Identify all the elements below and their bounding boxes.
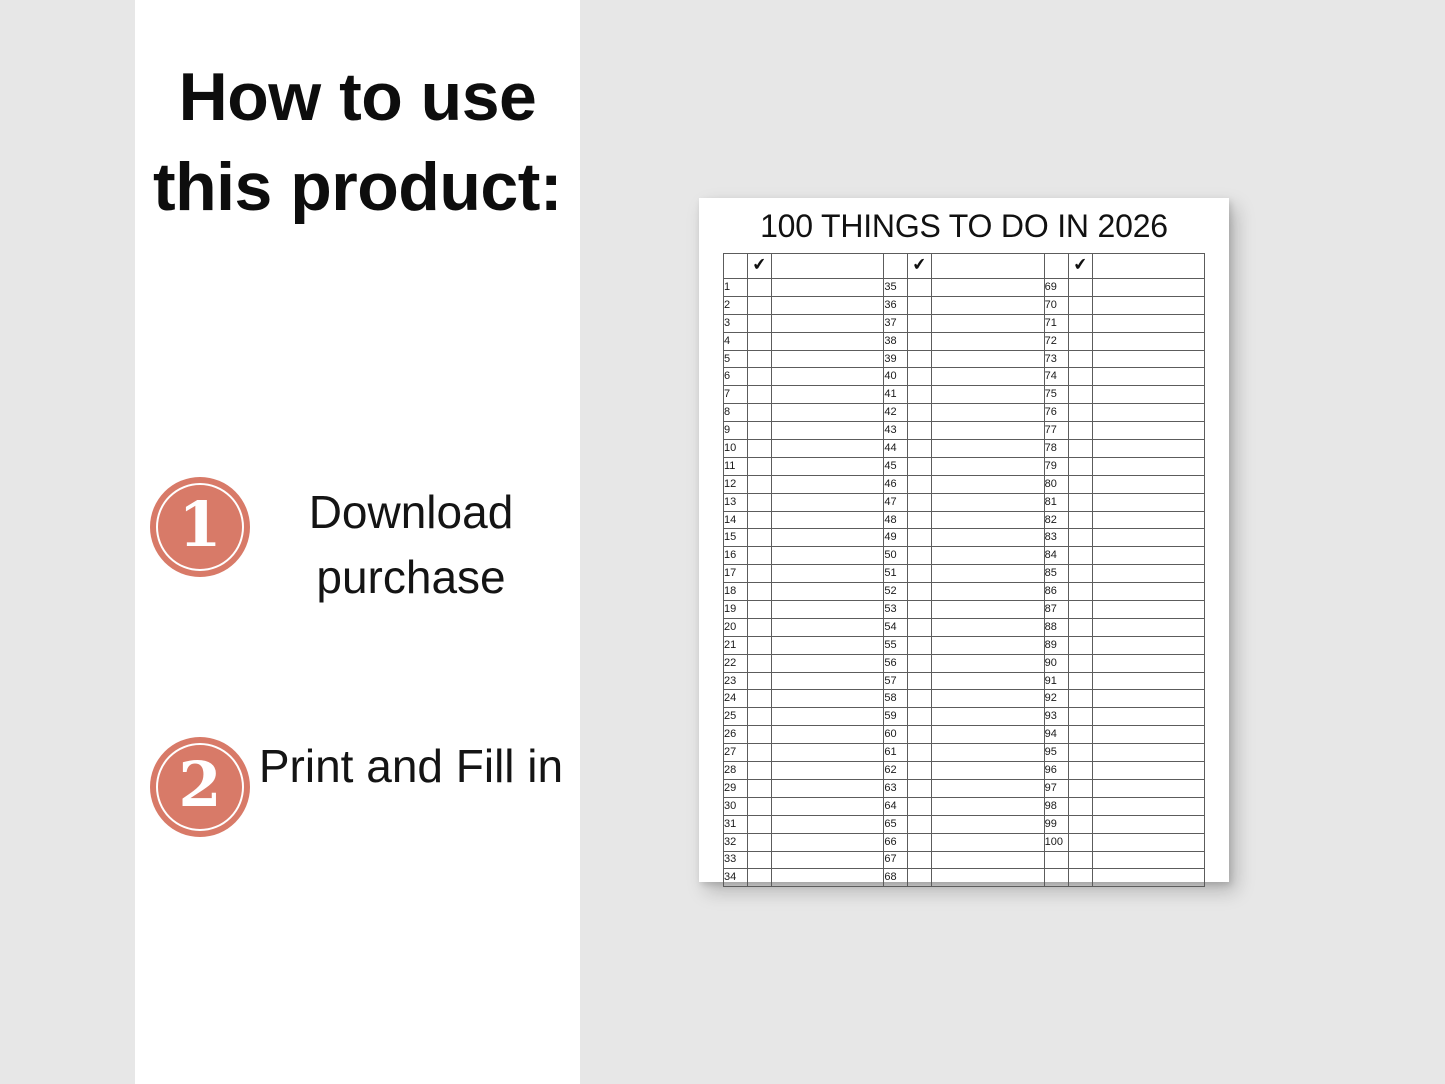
row-checkbox-cell[interactable] bbox=[1068, 690, 1092, 708]
row-checkbox-cell[interactable] bbox=[748, 690, 772, 708]
row-entry-cell[interactable] bbox=[772, 386, 884, 404]
row-entry-cell[interactable] bbox=[932, 815, 1044, 833]
row-entry-cell[interactable] bbox=[932, 869, 1044, 887]
table-row: 30 bbox=[724, 797, 884, 815]
row-checkbox-cell[interactable] bbox=[908, 583, 932, 601]
row-checkbox-cell[interactable] bbox=[908, 386, 932, 404]
row-number: 95 bbox=[1044, 744, 1068, 762]
row-checkbox-cell[interactable] bbox=[1068, 601, 1092, 619]
row-checkbox-cell[interactable] bbox=[748, 726, 772, 744]
table-row: 44 bbox=[884, 440, 1044, 458]
row-number: 22 bbox=[724, 654, 748, 672]
row-entry-cell[interactable] bbox=[1092, 869, 1204, 887]
table-row: 82 bbox=[1044, 511, 1204, 529]
row-checkbox-cell[interactable] bbox=[908, 833, 932, 851]
row-entry-cell[interactable] bbox=[772, 672, 884, 690]
row-entry-cell[interactable] bbox=[932, 368, 1044, 386]
row-entry-cell[interactable] bbox=[772, 654, 884, 672]
row-entry-cell[interactable] bbox=[1092, 457, 1204, 475]
row-checkbox-cell[interactable] bbox=[908, 332, 932, 350]
row-entry-cell[interactable] bbox=[1092, 672, 1204, 690]
row-number: 66 bbox=[884, 833, 908, 851]
row-checkbox-cell[interactable] bbox=[748, 422, 772, 440]
row-entry-cell[interactable] bbox=[932, 833, 1044, 851]
row-entry-cell[interactable] bbox=[932, 279, 1044, 297]
row-checkbox-cell[interactable] bbox=[748, 404, 772, 422]
row-entry-cell[interactable] bbox=[1092, 475, 1204, 493]
row-entry-cell[interactable] bbox=[772, 744, 884, 762]
row-checkbox-cell[interactable] bbox=[908, 314, 932, 332]
row-checkbox-cell[interactable] bbox=[908, 279, 932, 297]
row-entry-cell[interactable] bbox=[1092, 708, 1204, 726]
row-number: 72 bbox=[1044, 332, 1068, 350]
row-entry-cell[interactable] bbox=[932, 618, 1044, 636]
row-entry-cell[interactable] bbox=[932, 726, 1044, 744]
row-checkbox-cell[interactable] bbox=[908, 440, 932, 458]
row-entry-cell[interactable] bbox=[772, 332, 884, 350]
row-entry-cell[interactable] bbox=[932, 296, 1044, 314]
row-entry-cell[interactable] bbox=[1092, 779, 1204, 797]
row-checkbox-cell[interactable] bbox=[748, 654, 772, 672]
row-entry-cell[interactable] bbox=[1092, 493, 1204, 511]
row-checkbox-cell[interactable] bbox=[908, 744, 932, 762]
row-entry-cell[interactable] bbox=[1092, 762, 1204, 780]
row-entry-cell[interactable] bbox=[772, 583, 884, 601]
row-checkbox-cell[interactable] bbox=[748, 601, 772, 619]
row-checkbox-cell[interactable] bbox=[748, 475, 772, 493]
row-checkbox-cell[interactable] bbox=[748, 296, 772, 314]
table-row: 42 bbox=[884, 404, 1044, 422]
row-entry-cell[interactable] bbox=[772, 762, 884, 780]
row-checkbox-cell[interactable] bbox=[1068, 565, 1092, 583]
row-number bbox=[1044, 851, 1068, 869]
checklist-column-2: ✔353637383940414243444546474849505152535… bbox=[883, 253, 1044, 887]
row-number: 47 bbox=[884, 493, 908, 511]
row-entry-cell[interactable] bbox=[1092, 547, 1204, 565]
row-entry-cell[interactable] bbox=[1092, 815, 1204, 833]
row-checkbox-cell[interactable] bbox=[908, 672, 932, 690]
row-number: 61 bbox=[884, 744, 908, 762]
row-checkbox-cell[interactable] bbox=[1068, 851, 1092, 869]
checklist-grid: ✔123456789101112131415161718192021222324… bbox=[723, 253, 1207, 887]
row-number: 19 bbox=[724, 601, 748, 619]
table-row: 19 bbox=[724, 601, 884, 619]
row-entry-cell[interactable] bbox=[772, 511, 884, 529]
row-entry-cell[interactable] bbox=[932, 404, 1044, 422]
row-checkbox-cell[interactable] bbox=[908, 511, 932, 529]
row-number: 84 bbox=[1044, 547, 1068, 565]
row-number: 78 bbox=[1044, 440, 1068, 458]
row-number: 81 bbox=[1044, 493, 1068, 511]
table-row: 22 bbox=[724, 654, 884, 672]
row-checkbox-cell[interactable] bbox=[748, 833, 772, 851]
row-entry-cell[interactable] bbox=[1092, 618, 1204, 636]
row-entry-cell[interactable] bbox=[932, 332, 1044, 350]
row-entry-cell[interactable] bbox=[932, 493, 1044, 511]
row-checkbox-cell[interactable] bbox=[1068, 404, 1092, 422]
row-entry-cell[interactable] bbox=[772, 726, 884, 744]
row-checkbox-cell[interactable] bbox=[908, 529, 932, 547]
row-checkbox-cell[interactable] bbox=[908, 404, 932, 422]
table-row: 9 bbox=[724, 422, 884, 440]
table-row: 32 bbox=[724, 833, 884, 851]
row-checkbox-cell[interactable] bbox=[1068, 762, 1092, 780]
row-number: 80 bbox=[1044, 475, 1068, 493]
row-checkbox-cell[interactable] bbox=[1068, 314, 1092, 332]
row-checkbox-cell[interactable] bbox=[748, 797, 772, 815]
row-entry-cell[interactable] bbox=[772, 636, 884, 654]
row-entry-cell[interactable] bbox=[772, 708, 884, 726]
row-entry-cell[interactable] bbox=[772, 422, 884, 440]
row-entry-cell[interactable] bbox=[772, 547, 884, 565]
row-checkbox-cell[interactable] bbox=[748, 368, 772, 386]
row-checkbox-cell[interactable] bbox=[1068, 797, 1092, 815]
row-entry-cell[interactable] bbox=[772, 869, 884, 887]
table-row: 52 bbox=[884, 583, 1044, 601]
row-entry-cell[interactable] bbox=[772, 833, 884, 851]
row-checkbox-cell[interactable] bbox=[1068, 815, 1092, 833]
row-entry-cell[interactable] bbox=[1092, 833, 1204, 851]
row-checkbox-cell[interactable] bbox=[748, 457, 772, 475]
row-checkbox-cell[interactable] bbox=[1068, 296, 1092, 314]
row-checkbox-cell[interactable] bbox=[908, 726, 932, 744]
row-checkbox-cell[interactable] bbox=[1068, 583, 1092, 601]
row-entry-cell[interactable] bbox=[1092, 422, 1204, 440]
row-entry-cell[interactable] bbox=[772, 440, 884, 458]
row-entry-cell[interactable] bbox=[1092, 690, 1204, 708]
row-checkbox-cell[interactable] bbox=[908, 708, 932, 726]
table-row: 15 bbox=[724, 529, 884, 547]
row-number: 59 bbox=[884, 708, 908, 726]
table-row: 59 bbox=[884, 708, 1044, 726]
table-row: 93 bbox=[1044, 708, 1204, 726]
row-entry-cell[interactable] bbox=[932, 386, 1044, 404]
row-entry-cell[interactable] bbox=[932, 422, 1044, 440]
row-entry-cell[interactable] bbox=[1092, 744, 1204, 762]
row-number: 31 bbox=[724, 815, 748, 833]
row-number: 21 bbox=[724, 636, 748, 654]
row-checkbox-cell[interactable] bbox=[1068, 672, 1092, 690]
table-row: 35 bbox=[884, 279, 1044, 297]
row-entry-cell[interactable] bbox=[932, 565, 1044, 583]
row-entry-cell[interactable] bbox=[932, 654, 1044, 672]
row-entry-cell[interactable] bbox=[1092, 529, 1204, 547]
table-row: 55 bbox=[884, 636, 1044, 654]
table-row: 5 bbox=[724, 350, 884, 368]
row-entry-cell[interactable] bbox=[1092, 350, 1204, 368]
row-entry-cell[interactable] bbox=[772, 296, 884, 314]
row-checkbox-cell[interactable] bbox=[1068, 386, 1092, 404]
row-checkbox-cell[interactable] bbox=[748, 440, 772, 458]
row-entry-cell[interactable] bbox=[932, 511, 1044, 529]
row-checkbox-cell[interactable] bbox=[1068, 833, 1092, 851]
row-entry-cell[interactable] bbox=[772, 350, 884, 368]
row-number: 85 bbox=[1044, 565, 1068, 583]
row-checkbox-cell[interactable] bbox=[748, 279, 772, 297]
row-checkbox-cell[interactable] bbox=[908, 457, 932, 475]
step-badge-1: 1 bbox=[150, 477, 250, 577]
table-row: 72 bbox=[1044, 332, 1204, 350]
row-number: 9 bbox=[724, 422, 748, 440]
table-row: 78 bbox=[1044, 440, 1204, 458]
row-entry-cell[interactable] bbox=[932, 672, 1044, 690]
row-checkbox-cell[interactable] bbox=[908, 690, 932, 708]
row-entry-cell[interactable] bbox=[1092, 565, 1204, 583]
row-checkbox-cell[interactable] bbox=[1068, 618, 1092, 636]
row-entry-cell[interactable] bbox=[932, 636, 1044, 654]
row-number: 91 bbox=[1044, 672, 1068, 690]
row-checkbox-cell[interactable] bbox=[908, 851, 932, 869]
row-number: 46 bbox=[884, 475, 908, 493]
row-checkbox-cell[interactable] bbox=[748, 636, 772, 654]
row-number: 63 bbox=[884, 779, 908, 797]
row-entry-cell[interactable] bbox=[772, 690, 884, 708]
row-checkbox-cell[interactable] bbox=[908, 565, 932, 583]
row-entry-cell[interactable] bbox=[1092, 654, 1204, 672]
step-number-2: 2 bbox=[178, 754, 221, 816]
row-checkbox-cell[interactable] bbox=[1068, 708, 1092, 726]
row-checkbox-cell[interactable] bbox=[908, 422, 932, 440]
row-checkbox-cell[interactable] bbox=[908, 779, 932, 797]
table-row: 4 bbox=[724, 332, 884, 350]
row-checkbox-cell[interactable] bbox=[748, 618, 772, 636]
row-number: 94 bbox=[1044, 726, 1068, 744]
row-checkbox-cell[interactable] bbox=[748, 350, 772, 368]
row-number: 14 bbox=[724, 511, 748, 529]
table-row: 81 bbox=[1044, 493, 1204, 511]
row-checkbox-cell[interactable] bbox=[748, 493, 772, 511]
row-entry-cell[interactable] bbox=[1092, 601, 1204, 619]
table-row: 7 bbox=[724, 386, 884, 404]
row-checkbox-cell[interactable] bbox=[1068, 744, 1092, 762]
row-entry-cell[interactable] bbox=[932, 440, 1044, 458]
row-checkbox-cell[interactable] bbox=[748, 386, 772, 404]
row-entry-cell[interactable] bbox=[932, 744, 1044, 762]
row-checkbox-cell[interactable] bbox=[748, 708, 772, 726]
row-entry-cell[interactable] bbox=[1092, 851, 1204, 869]
row-number: 48 bbox=[884, 511, 908, 529]
row-checkbox-cell[interactable] bbox=[748, 332, 772, 350]
row-entry-cell[interactable] bbox=[772, 279, 884, 297]
row-number: 27 bbox=[724, 744, 748, 762]
row-checkbox-cell[interactable] bbox=[1068, 493, 1092, 511]
row-entry-cell[interactable] bbox=[932, 475, 1044, 493]
table-row: 16 bbox=[724, 547, 884, 565]
row-number: 25 bbox=[724, 708, 748, 726]
row-entry-cell[interactable] bbox=[1092, 404, 1204, 422]
step-item-2: 2 Print and Fill in bbox=[135, 712, 580, 837]
row-checkbox-cell[interactable] bbox=[908, 869, 932, 887]
row-entry-cell[interactable] bbox=[932, 350, 1044, 368]
table-row: 68 bbox=[884, 869, 1044, 887]
row-number: 2 bbox=[724, 296, 748, 314]
table-row: 100 bbox=[1044, 833, 1204, 851]
row-entry-cell[interactable] bbox=[932, 547, 1044, 565]
row-number: 17 bbox=[724, 565, 748, 583]
row-checkbox-cell[interactable] bbox=[1068, 422, 1092, 440]
header-entry-cell bbox=[932, 254, 1044, 279]
row-entry-cell[interactable] bbox=[1092, 440, 1204, 458]
row-checkbox-cell[interactable] bbox=[908, 815, 932, 833]
table-row: 64 bbox=[884, 797, 1044, 815]
row-entry-cell[interactable] bbox=[932, 457, 1044, 475]
row-entry-cell[interactable] bbox=[1092, 636, 1204, 654]
row-checkbox-cell[interactable] bbox=[748, 547, 772, 565]
row-entry-cell[interactable] bbox=[1092, 314, 1204, 332]
checklist-table: ✔123456789101112131415161718192021222324… bbox=[723, 253, 884, 887]
row-entry-cell[interactable] bbox=[932, 762, 1044, 780]
table-row: 48 bbox=[884, 511, 1044, 529]
row-number: 15 bbox=[724, 529, 748, 547]
row-entry-cell[interactable] bbox=[772, 618, 884, 636]
table-row: 57 bbox=[884, 672, 1044, 690]
row-checkbox-cell[interactable] bbox=[748, 314, 772, 332]
row-entry-cell[interactable] bbox=[1092, 583, 1204, 601]
row-checkbox-cell[interactable] bbox=[1068, 350, 1092, 368]
row-number: 1 bbox=[724, 279, 748, 297]
row-checkbox-cell[interactable] bbox=[908, 601, 932, 619]
table-row: 17 bbox=[724, 565, 884, 583]
row-entry-cell[interactable] bbox=[772, 851, 884, 869]
row-entry-cell[interactable] bbox=[772, 529, 884, 547]
row-entry-cell[interactable] bbox=[772, 457, 884, 475]
row-checkbox-cell[interactable] bbox=[1068, 368, 1092, 386]
row-number: 24 bbox=[724, 690, 748, 708]
row-checkbox-cell[interactable] bbox=[908, 654, 932, 672]
checklist-table: ✔697071727374757677787980818283848586878… bbox=[1044, 253, 1205, 887]
row-number: 7 bbox=[724, 386, 748, 404]
row-number: 20 bbox=[724, 618, 748, 636]
table-row: 11 bbox=[724, 457, 884, 475]
row-number: 87 bbox=[1044, 601, 1068, 619]
row-checkbox-cell[interactable] bbox=[1068, 457, 1092, 475]
row-checkbox-cell[interactable] bbox=[908, 296, 932, 314]
table-row: 65 bbox=[884, 815, 1044, 833]
table-row: 34 bbox=[724, 869, 884, 887]
row-number: 11 bbox=[724, 457, 748, 475]
row-entry-cell[interactable] bbox=[1092, 797, 1204, 815]
row-checkbox-cell[interactable] bbox=[1068, 869, 1092, 887]
table-row bbox=[1044, 851, 1204, 869]
row-entry-cell[interactable] bbox=[1092, 368, 1204, 386]
row-entry-cell[interactable] bbox=[932, 797, 1044, 815]
row-checkbox-cell[interactable] bbox=[748, 851, 772, 869]
row-checkbox-cell[interactable] bbox=[1068, 440, 1092, 458]
row-checkbox-cell[interactable] bbox=[908, 350, 932, 368]
table-row: 50 bbox=[884, 547, 1044, 565]
table-row: 69 bbox=[1044, 279, 1204, 297]
row-checkbox-cell[interactable] bbox=[1068, 636, 1092, 654]
table-row: 95 bbox=[1044, 744, 1204, 762]
row-number: 12 bbox=[724, 475, 748, 493]
row-entry-cell[interactable] bbox=[772, 797, 884, 815]
row-checkbox-cell[interactable] bbox=[908, 636, 932, 654]
row-checkbox-cell[interactable] bbox=[1068, 279, 1092, 297]
row-checkbox-cell[interactable] bbox=[748, 779, 772, 797]
row-checkbox-cell[interactable] bbox=[748, 744, 772, 762]
row-entry-cell[interactable] bbox=[772, 368, 884, 386]
step-item-1: 1 Download purchase bbox=[135, 452, 580, 712]
row-checkbox-cell[interactable] bbox=[748, 762, 772, 780]
row-entry-cell[interactable] bbox=[932, 601, 1044, 619]
row-checkbox-cell[interactable] bbox=[1068, 332, 1092, 350]
row-entry-cell[interactable] bbox=[772, 493, 884, 511]
row-entry-cell[interactable] bbox=[772, 314, 884, 332]
row-entry-cell[interactable] bbox=[932, 583, 1044, 601]
row-entry-cell[interactable] bbox=[1092, 511, 1204, 529]
row-checkbox-cell[interactable] bbox=[908, 475, 932, 493]
row-checkbox-cell[interactable] bbox=[1068, 654, 1092, 672]
row-number: 54 bbox=[884, 618, 908, 636]
row-checkbox-cell[interactable] bbox=[1068, 475, 1092, 493]
table-row: 96 bbox=[1044, 762, 1204, 780]
row-checkbox-cell[interactable] bbox=[748, 583, 772, 601]
row-entry-cell[interactable] bbox=[772, 565, 884, 583]
row-entry-cell[interactable] bbox=[772, 475, 884, 493]
row-checkbox-cell[interactable] bbox=[908, 493, 932, 511]
row-entry-cell[interactable] bbox=[1092, 386, 1204, 404]
row-checkbox-cell[interactable] bbox=[748, 815, 772, 833]
row-checkbox-cell[interactable] bbox=[1068, 779, 1092, 797]
table-row: 75 bbox=[1044, 386, 1204, 404]
row-checkbox-cell[interactable] bbox=[748, 869, 772, 887]
row-number: 50 bbox=[884, 547, 908, 565]
table-row: 76 bbox=[1044, 404, 1204, 422]
row-checkbox-cell[interactable] bbox=[748, 672, 772, 690]
table-row: 56 bbox=[884, 654, 1044, 672]
row-checkbox-cell[interactable] bbox=[908, 762, 932, 780]
row-checkbox-cell[interactable] bbox=[748, 511, 772, 529]
table-row: 94 bbox=[1044, 726, 1204, 744]
table-row: 41 bbox=[884, 386, 1044, 404]
row-entry-cell[interactable] bbox=[772, 601, 884, 619]
row-number: 13 bbox=[724, 493, 748, 511]
row-number: 28 bbox=[724, 762, 748, 780]
row-checkbox-cell[interactable] bbox=[908, 797, 932, 815]
row-checkbox-cell[interactable] bbox=[748, 529, 772, 547]
row-checkbox-cell[interactable] bbox=[908, 368, 932, 386]
row-number: 52 bbox=[884, 583, 908, 601]
row-entry-cell[interactable] bbox=[772, 779, 884, 797]
row-entry-cell[interactable] bbox=[1092, 726, 1204, 744]
row-entry-cell[interactable] bbox=[1092, 296, 1204, 314]
row-checkbox-cell[interactable] bbox=[908, 618, 932, 636]
table-row: 40 bbox=[884, 368, 1044, 386]
row-checkbox-cell[interactable] bbox=[1068, 547, 1092, 565]
row-entry-cell[interactable] bbox=[932, 529, 1044, 547]
row-entry-cell[interactable] bbox=[772, 815, 884, 833]
row-entry-cell[interactable] bbox=[932, 708, 1044, 726]
row-number: 32 bbox=[724, 833, 748, 851]
row-entry-cell[interactable] bbox=[932, 690, 1044, 708]
row-number: 34 bbox=[724, 869, 748, 887]
table-row: 87 bbox=[1044, 601, 1204, 619]
row-entry-cell[interactable] bbox=[1092, 279, 1204, 297]
row-entry-cell[interactable] bbox=[772, 404, 884, 422]
row-checkbox-cell[interactable] bbox=[1068, 529, 1092, 547]
row-number: 83 bbox=[1044, 529, 1068, 547]
row-entry-cell[interactable] bbox=[1092, 332, 1204, 350]
table-row: 89 bbox=[1044, 636, 1204, 654]
row-checkbox-cell[interactable] bbox=[1068, 726, 1092, 744]
row-checkbox-cell[interactable] bbox=[908, 547, 932, 565]
row-checkbox-cell[interactable] bbox=[748, 565, 772, 583]
row-entry-cell[interactable] bbox=[932, 779, 1044, 797]
row-entry-cell[interactable] bbox=[932, 851, 1044, 869]
row-number: 79 bbox=[1044, 457, 1068, 475]
row-entry-cell[interactable] bbox=[932, 314, 1044, 332]
row-checkbox-cell[interactable] bbox=[1068, 511, 1092, 529]
